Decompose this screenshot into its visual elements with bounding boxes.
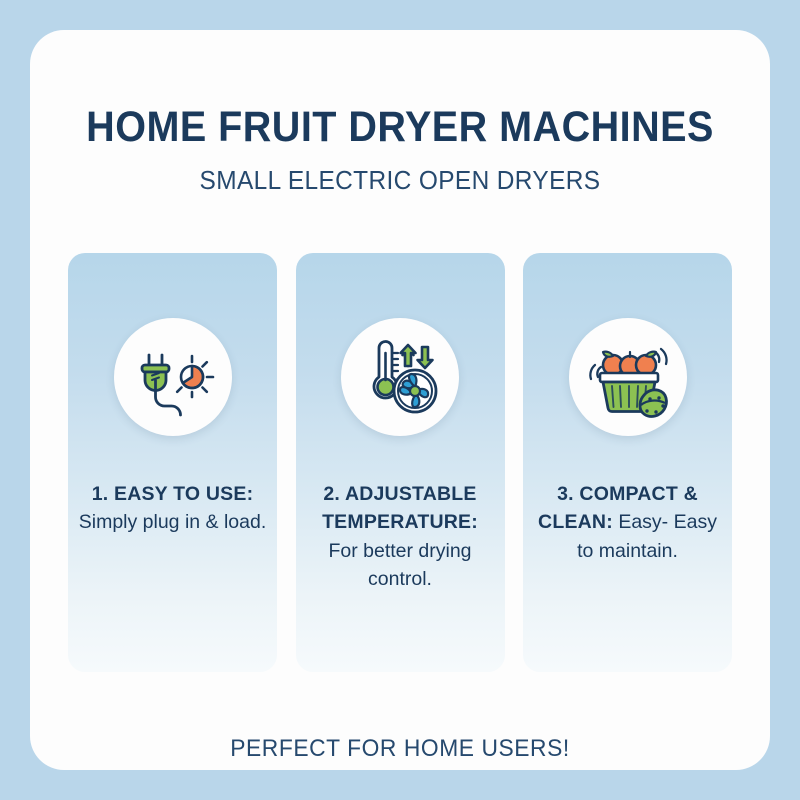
feature-lead-2: 2. ADJUSTABLE TEMPERATURE: (322, 483, 478, 533)
plug-sun-icon (131, 335, 215, 419)
feature-lead-1: 1. EASY TO USE: (92, 483, 254, 505)
feature-card-2: 2. ADJUSTABLE TEMPERATURE: For better dr… (296, 253, 505, 672)
header: HOME FRUIT DRYER MACHINES SMALL ELECTRIC… (30, 30, 770, 196)
feature-body-1: Simply plug in & load. (79, 511, 267, 533)
feature-card-1: 1. EASY TO USE: Simply plug in & load. (68, 253, 277, 672)
icon-badge-2 (341, 318, 459, 436)
icon-badge-3 (569, 318, 687, 436)
page-title: HOME FRUIT DRYER MACHINES (60, 104, 741, 151)
thermometer-fan-icon (358, 335, 442, 419)
feature-cards: 1. EASY TO USE: Simply plug in & load. (68, 253, 732, 672)
feature-text-1: 1. EASY TO USE: Simply plug in & load. (69, 480, 277, 537)
page-subtitle: SMALL ELECTRIC OPEN DRYERS (52, 165, 748, 196)
fruit-basket-sponge-icon (586, 335, 670, 419)
icon-badge-1 (114, 318, 232, 436)
feature-body-2: For better drying control. (328, 540, 471, 590)
footer-tagline: PERFECT FOR HOME USERS! (49, 735, 752, 763)
feature-text-2: 2. ADJUSTABLE TEMPERATURE: For better dr… (296, 480, 505, 593)
feature-text-3: 3. COMPACT & CLEAN: Easy- Easy to mainta… (523, 480, 732, 565)
feature-card-3: 3. COMPACT & CLEAN: Easy- Easy to mainta… (523, 253, 732, 672)
poster-card: HOME FRUIT DRYER MACHINES SMALL ELECTRIC… (30, 30, 770, 770)
